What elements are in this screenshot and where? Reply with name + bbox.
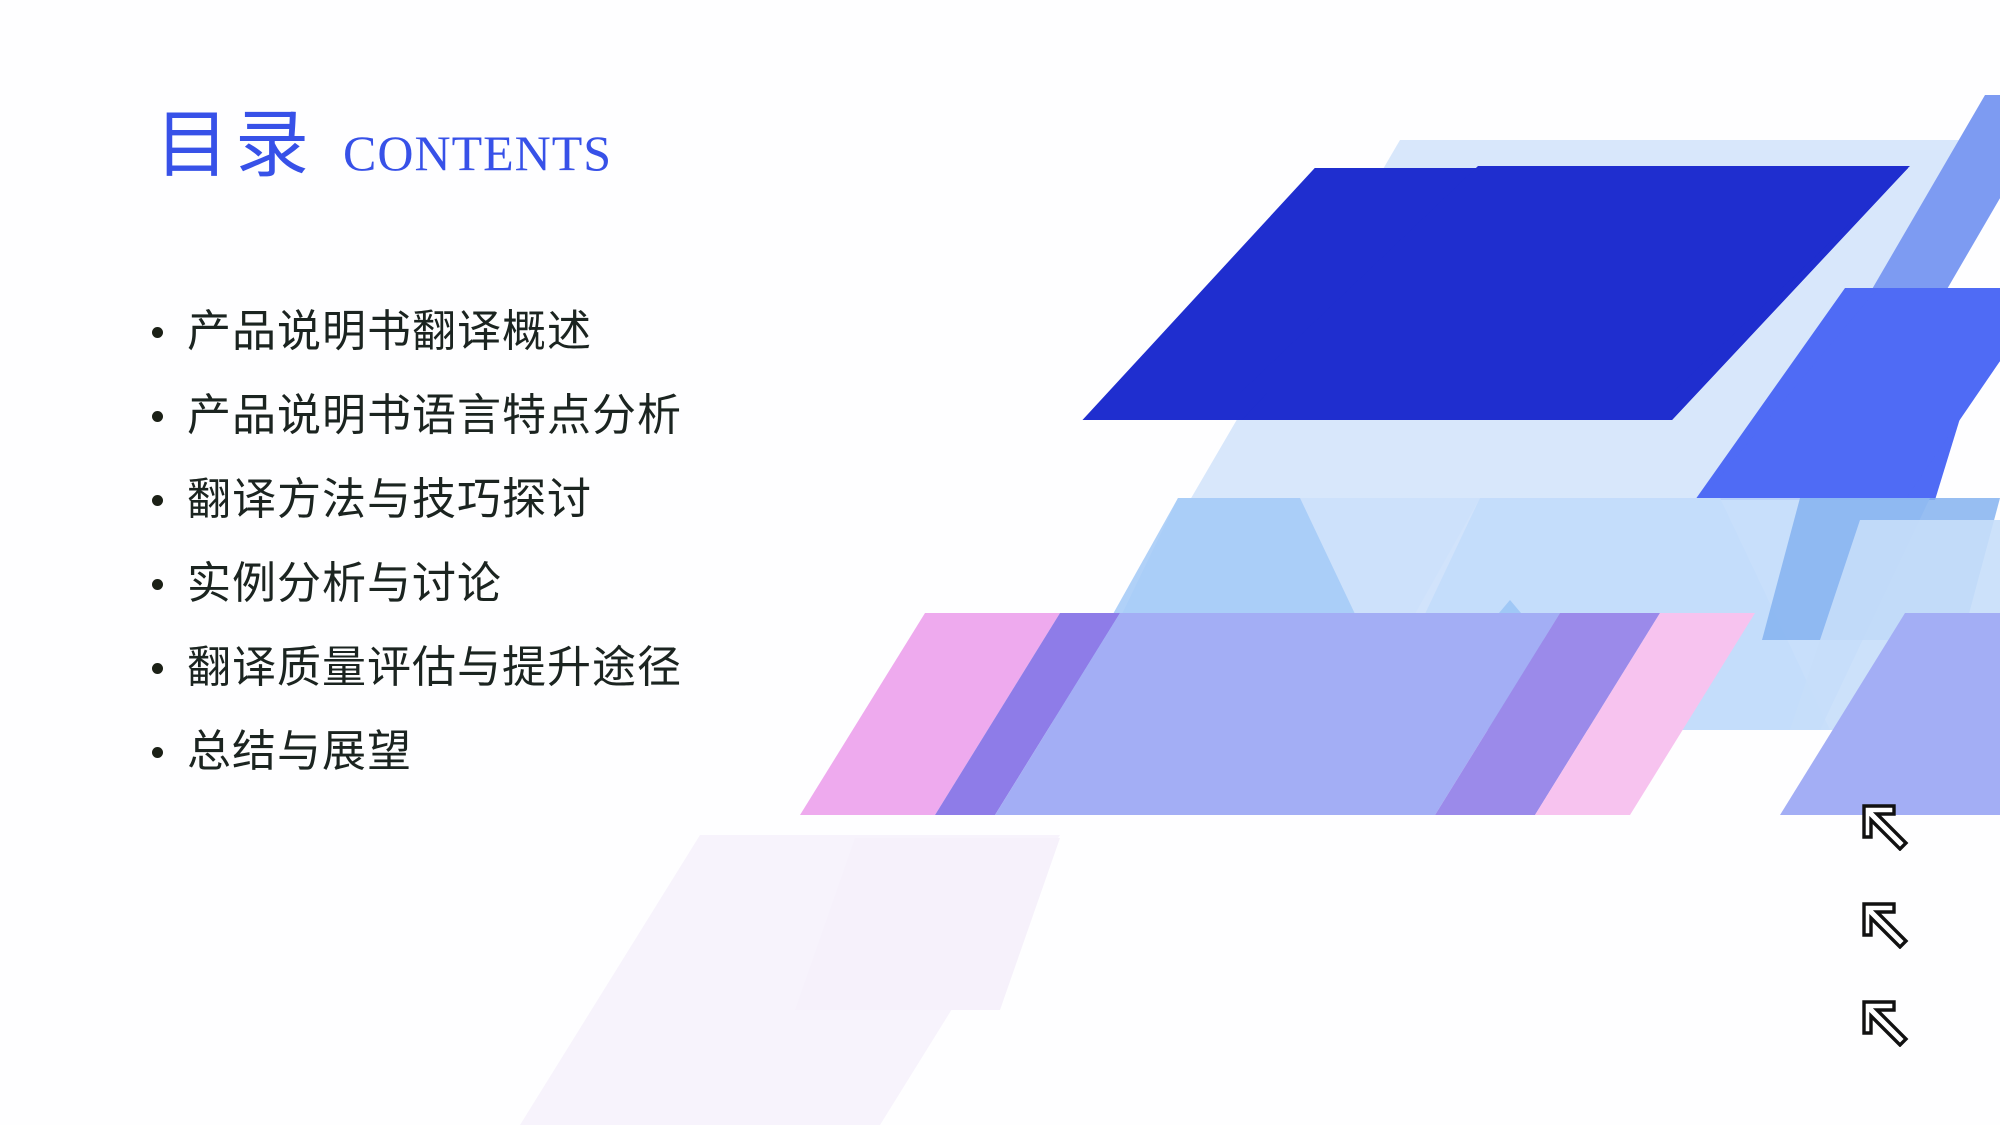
toc-item-label: 总结与展望 bbox=[187, 728, 412, 776]
shape-sky-left bbox=[1066, 498, 1440, 730]
list-item[interactable]: 翻译方法与技巧探讨 bbox=[152, 458, 912, 542]
arrow-up-left-icon[interactable] bbox=[1861, 901, 1909, 949]
list-item[interactable]: 实例分析与讨论 bbox=[152, 542, 912, 626]
shape-royal-blue-mid bbox=[1695, 288, 2000, 500]
arrow-icon-stack bbox=[1861, 803, 1909, 1047]
shape-pink-right bbox=[1535, 613, 1755, 815]
shape-deep-blue-body bbox=[1242, 168, 1908, 420]
arrow-up-left-icon[interactable] bbox=[1861, 803, 1909, 851]
toc-item-label: 翻译方法与技巧探讨 bbox=[187, 476, 592, 524]
shape-deep-blue-final bbox=[1240, 166, 1910, 393]
bullet-icon bbox=[152, 579, 163, 590]
bullet-icon bbox=[152, 747, 163, 758]
bullet-icon bbox=[152, 411, 163, 422]
page-title: 目录 CONTENTS bbox=[155, 108, 612, 182]
shape-royal-blue-mid2 bbox=[1700, 288, 2000, 500]
shape-cross-triangle bbox=[1400, 600, 1620, 730]
toc-item-label: 实例分析与讨论 bbox=[187, 560, 502, 608]
shape-lavender-wide bbox=[995, 613, 1560, 815]
toc-item-label: 产品说明书翻译概述 bbox=[187, 308, 592, 356]
list-item[interactable]: 产品说明书语言特点分析 bbox=[152, 374, 912, 458]
shape-faint-bottom bbox=[520, 835, 1060, 1125]
shape-lavender-far-right bbox=[1780, 613, 2000, 815]
shape-pale-center bbox=[1370, 498, 1930, 730]
shape-sky-left-wide bbox=[1048, 498, 1480, 730]
slide-canvas: 目录 CONTENTS 产品说明书翻译概述 产品说明书语言特点分析 翻译方法与技… bbox=[0, 0, 2000, 1125]
shape-pale-right-edge bbox=[1790, 520, 2000, 730]
table-of-contents: 产品说明书翻译概述 产品说明书语言特点分析 翻译方法与技巧探讨 实例分析与讨论 … bbox=[152, 290, 912, 794]
shape-deep-blue-main bbox=[1242, 168, 1908, 420]
shape-ice-blue-top bbox=[1190, 140, 2000, 500]
bullet-icon bbox=[152, 495, 163, 506]
toc-item-label: 翻译质量评估与提升途径 bbox=[187, 644, 682, 692]
page-title-cn: 目录 bbox=[155, 108, 315, 182]
shape-sky-right bbox=[1762, 498, 2000, 640]
list-item[interactable]: 总结与展望 bbox=[152, 710, 912, 794]
shape-faint-bottom-2 bbox=[795, 838, 1060, 1010]
shape-ice-mid bbox=[1300, 498, 1830, 730]
shape-violet-stripe bbox=[935, 613, 1120, 815]
bullet-icon bbox=[152, 663, 163, 674]
shape-deep-blue bbox=[1082, 168, 1744, 420]
list-item[interactable]: 翻译质量评估与提升途径 bbox=[152, 626, 912, 710]
shape-deep-blue-extend bbox=[1242, 168, 1908, 392]
shape-violet-right bbox=[1435, 613, 1660, 815]
toc-item-label: 产品说明书语言特点分析 bbox=[187, 392, 682, 440]
page-title-en: CONTENTS bbox=[343, 128, 612, 178]
bullet-icon bbox=[152, 327, 163, 338]
shape-royal-corner bbox=[1825, 95, 2000, 370]
arrow-up-left-icon[interactable] bbox=[1861, 999, 1909, 1047]
list-item[interactable]: 产品说明书翻译概述 bbox=[152, 290, 912, 374]
